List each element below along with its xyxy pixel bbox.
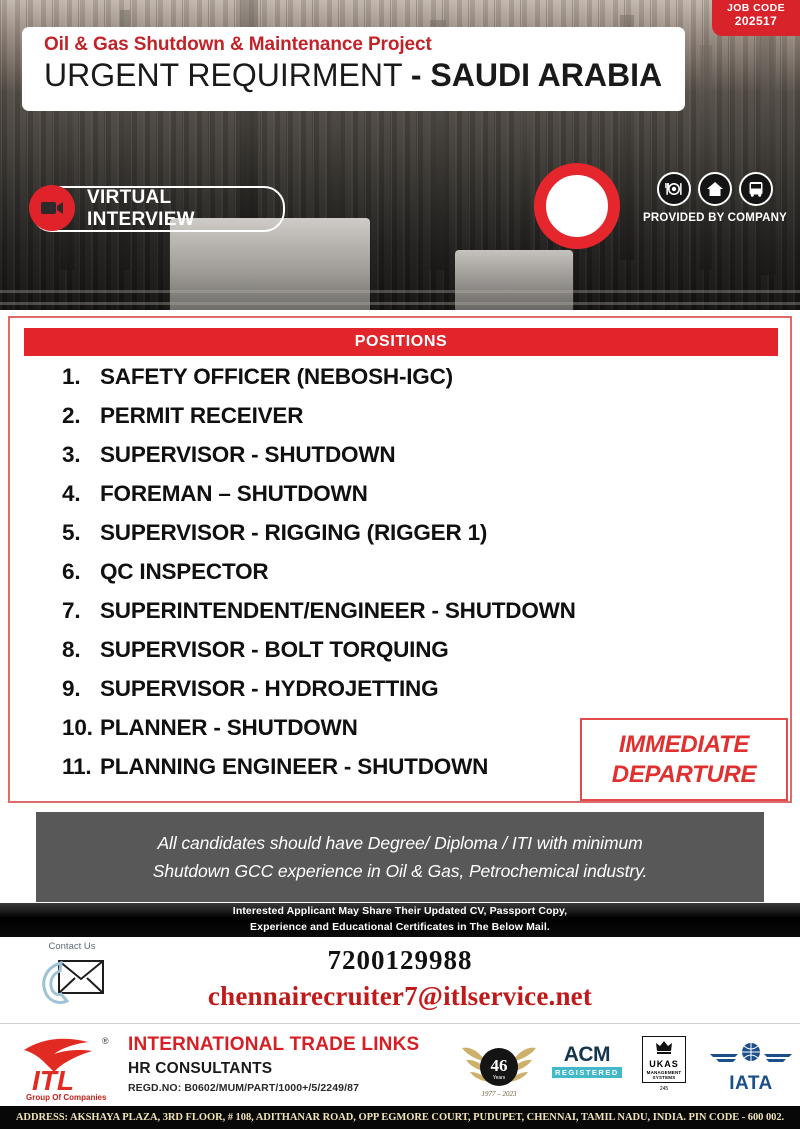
contact-phone[interactable]: 7200129988 — [0, 945, 800, 976]
list-item: 6. QC INSPECTOR — [62, 561, 762, 584]
address-bar: ADDRESS: AKSHAYA PLAZA, 3RD FLOOR, # 108… — [0, 1106, 800, 1129]
list-item: 9. SUPERVISOR - HYDROJETTING — [62, 678, 762, 701]
svg-text:46: 46 — [491, 1056, 508, 1075]
svg-text:1977 – 2023: 1977 – 2023 — [482, 1090, 518, 1098]
list-item-label: SUPERVISOR - HYDROJETTING — [100, 678, 438, 701]
list-item-label: SUPERVISOR - RIGGING (RIGGER 1) — [100, 522, 487, 545]
transport-icon — [739, 172, 773, 206]
refinery-tower — [700, 45, 712, 270]
svg-text:®: ® — [102, 1036, 109, 1046]
list-item-number: 2. — [62, 405, 100, 428]
provided-by-company-block: PROVIDED BY COMPANY — [640, 172, 790, 224]
iata-label: IATA — [708, 1073, 794, 1095]
acm-sub-label: REGISTERED — [552, 1067, 622, 1078]
company-identity: INTERNATIONAL TRADE LINKS HR CONSULTANTS… — [128, 1034, 419, 1094]
list-item-number: 6. — [62, 561, 100, 584]
pipeline — [0, 302, 800, 305]
storage-tank — [455, 250, 573, 310]
project-subtitle: Oil & Gas Shutdown & Maintenance Project — [44, 35, 685, 56]
ukas-sub-label: MANAGEMENT SYSTEMS — [643, 1070, 685, 1081]
list-item-number: 7. — [62, 600, 100, 623]
contact-email[interactable]: chennairecruiter7@itlservice.net — [0, 981, 800, 1012]
application-instructions-strip: Interested Applicant May Share Their Upd… — [0, 903, 800, 937]
itl-logo-sub: Group Of Companies — [26, 1093, 107, 1102]
accommodation-icon — [698, 172, 732, 206]
list-item-label: PLANNING ENGINEER - SHUTDOWN — [100, 756, 488, 779]
list-item-label: SUPERVISOR - BOLT TORQUING — [100, 639, 449, 662]
immediate-departure-line2: DEPARTURE — [612, 760, 756, 790]
acm-label: ACM — [552, 1044, 622, 1065]
provided-by-company-label: PROVIDED BY COMPANY — [640, 212, 790, 224]
eligibility-note-line1: All candidates should have Degree/ Diplo… — [157, 829, 642, 857]
virtual-interview-badge: VIRTUAL INTERVIEW — [31, 186, 285, 232]
instructions-line2: Experience and Educational Certificates … — [250, 920, 550, 936]
ukas-logo: UKAS MANAGEMENT SYSTEMS — [642, 1036, 686, 1083]
list-item: 8. SUPERVISOR - BOLT TORQUING — [62, 639, 762, 662]
title-card: Oil & Gas Shutdown & Maintenance Project… — [22, 27, 685, 111]
list-item-label: SUPERINTENDENT/ENGINEER - SHUTDOWN — [100, 600, 576, 623]
list-item-label: FOREMAN – SHUTDOWN — [100, 483, 368, 506]
anniversary-emblem-icon: 46 Years 1977 – 2023 — [454, 1030, 544, 1100]
acm-logo: ACM REGISTERED — [552, 1044, 622, 1078]
title-main-text: URGENT REQUIRMENT — [44, 57, 402, 93]
immediate-departure-badge: IMMEDIATE DEPARTURE — [580, 718, 788, 801]
company-registration-number: REGD.NO: B0602/MUM/PART/1000+/5/2249/87 — [128, 1082, 419, 1094]
emblem-placeholder-circle — [534, 163, 620, 249]
list-item-number: 1. — [62, 366, 100, 389]
list-item-number: 11. — [62, 756, 100, 779]
pipeline — [0, 290, 800, 293]
company-role: HR CONSULTANTS — [128, 1060, 419, 1078]
list-item: 3. SUPERVISOR - SHUTDOWN — [62, 444, 762, 467]
food-icon — [657, 172, 691, 206]
refinery-tower — [760, 25, 776, 275]
ukas-label: UKAS — [643, 1060, 685, 1070]
positions-panel: POSITIONS 1. SAFETY OFFICER (NEBOSH-IGC)… — [8, 316, 792, 803]
video-camera-icon — [29, 185, 75, 231]
hero-banner: JOB CODE 202517 Oil & Gas Shutdown & Mai… — [0, 0, 800, 310]
ukas-number: 245 — [642, 1086, 686, 1092]
list-item-number: 9. — [62, 678, 100, 701]
list-item-label: SAFETY OFFICER (NEBOSH-IGC) — [100, 366, 453, 389]
svg-text:ITL: ITL — [32, 1065, 74, 1096]
address-text: ADDRESS: AKSHAYA PLAZA, 3RD FLOOR, # 108… — [16, 1112, 784, 1123]
job-code-value: 202517 — [712, 15, 800, 28]
list-item-label: SUPERVISOR - SHUTDOWN — [100, 444, 395, 467]
eligibility-note: All candidates should have Degree/ Diplo… — [36, 812, 764, 902]
crown-icon — [654, 1039, 674, 1055]
instructions-line1: Interested Applicant May Share Their Upd… — [233, 904, 567, 920]
title-country-text: - SAUDI ARABIA — [411, 57, 662, 93]
itl-logo: ITL Group Of Companies ® — [14, 1030, 118, 1102]
list-item-label: PERMIT RECEIVER — [100, 405, 303, 428]
benefit-icons — [640, 172, 790, 206]
job-code-badge: JOB CODE 202517 — [712, 0, 800, 36]
list-item-number: 8. — [62, 639, 100, 662]
list-item: 2. PERMIT RECEIVER — [62, 405, 762, 428]
list-item-number: 10. — [62, 717, 100, 740]
positions-header: POSITIONS — [24, 328, 778, 356]
svg-text:Years: Years — [493, 1075, 506, 1081]
list-item: 7. SUPERINTENDENT/ENGINEER - SHUTDOWN — [62, 600, 762, 623]
list-item-number: 5. — [62, 522, 100, 545]
job-code-label: JOB CODE — [712, 3, 800, 15]
list-item-label: QC INSPECTOR — [100, 561, 268, 584]
contact-section: Contact Us 7200129988 chennairecruiter7@… — [0, 937, 800, 1023]
iata-globe-wings-icon — [708, 1040, 794, 1070]
list-item-label: PLANNER - SHUTDOWN — [100, 717, 358, 740]
list-item-number: 3. — [62, 444, 100, 467]
page-title: URGENT REQUIRMENT - SAUDI ARABIA — [44, 58, 685, 94]
footer: ITL Group Of Companies ® INTERNATIONAL T… — [0, 1023, 800, 1107]
virtual-interview-label: VIRTUAL INTERVIEW — [87, 187, 283, 231]
company-name: INTERNATIONAL TRADE LINKS — [128, 1034, 419, 1056]
eligibility-note-line2: Shutdown GCC experience in Oil & Gas, Pe… — [153, 857, 648, 885]
list-item: 5. SUPERVISOR - RIGGING (RIGGER 1) — [62, 522, 762, 545]
certification-logos: 46 Years 1977 – 2023 ACM REGISTERED UKAS… — [452, 1028, 792, 1104]
list-item: 4. FOREMAN – SHUTDOWN — [62, 483, 762, 506]
list-item: 1. SAFETY OFFICER (NEBOSH-IGC) — [62, 366, 762, 389]
iata-logo: IATA — [708, 1040, 794, 1095]
immediate-departure-line1: IMMEDIATE — [619, 730, 749, 760]
list-item-number: 4. — [62, 483, 100, 506]
